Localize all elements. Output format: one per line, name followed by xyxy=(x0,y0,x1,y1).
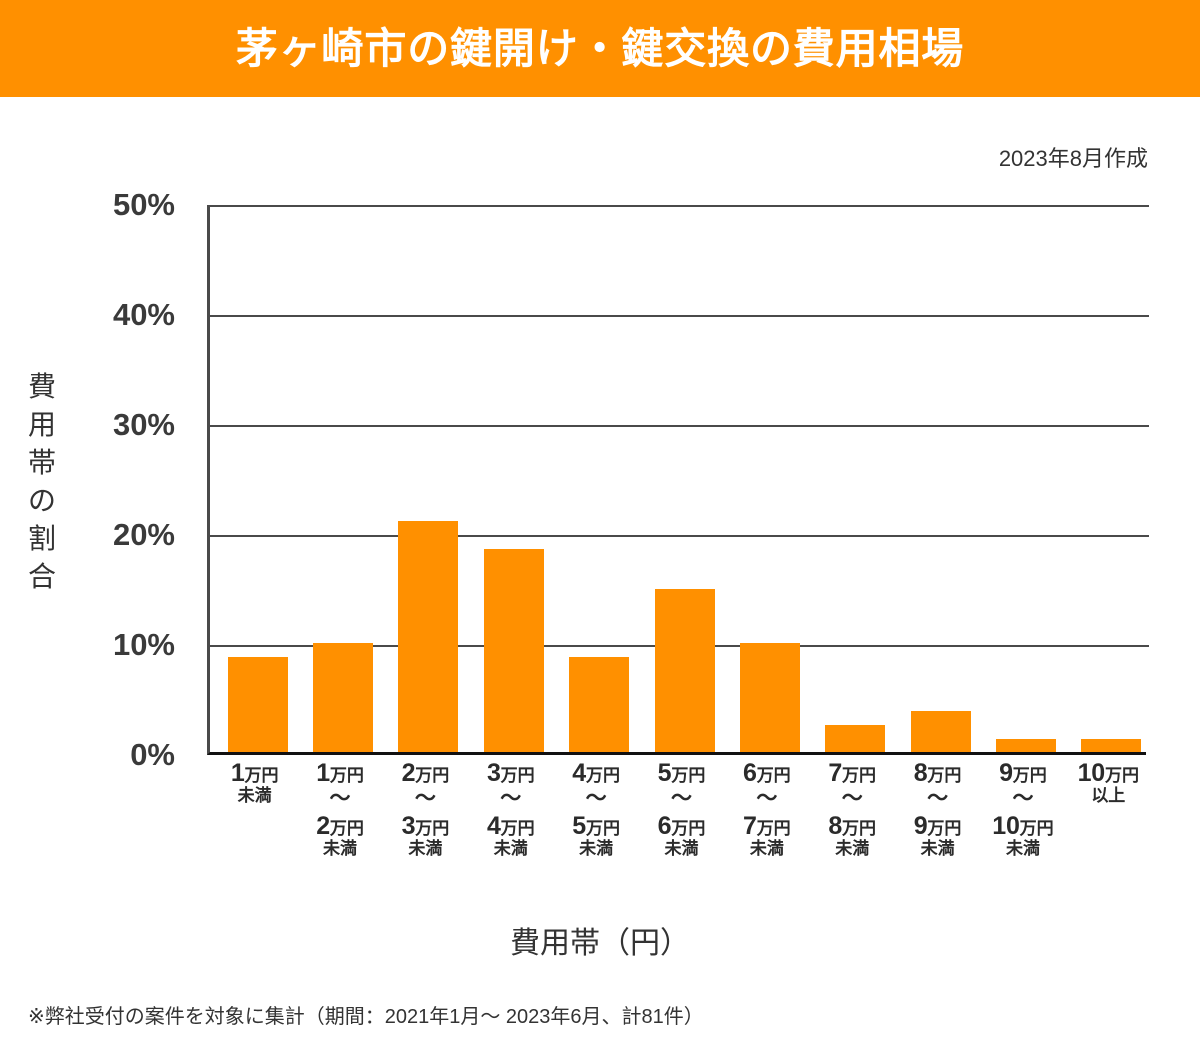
x-tick-range-separator: ～ xyxy=(553,786,639,812)
x-tick-range-end: 9万円 xyxy=(895,813,981,839)
gridline xyxy=(210,535,1149,537)
x-tick-range-separator: ～ xyxy=(468,786,554,812)
y-axis-title-char: 帯 xyxy=(22,444,62,482)
x-axis-tick-label: 2万円～3万円未満 xyxy=(382,760,468,858)
x-tick-range-start: 7万円 xyxy=(809,760,895,786)
x-axis-tick-label: 1万円～2万円未満 xyxy=(297,760,383,858)
x-axis-tick-label: 6万円～7万円未満 xyxy=(724,760,810,858)
x-tick-range-separator: ～ xyxy=(297,786,383,812)
x-axis-tick-label: 5万円～6万円未満 xyxy=(639,760,725,858)
x-tick-suffix: 未満 xyxy=(382,840,468,858)
x-tick-range-start: 1万円 xyxy=(297,760,383,786)
created-date-label: 2023年8月作成 xyxy=(999,141,1148,173)
gridline xyxy=(210,315,1149,317)
chart-page: 茅ヶ崎市の鍵開け・鍵交換の費用相場 2023年8月作成 費用帯の割合 0%10%… xyxy=(0,0,1200,1041)
x-tick-suffix: 未満 xyxy=(553,840,639,858)
x-tick-range-end: 6万円 xyxy=(639,813,725,839)
x-axis-tick-label: 8万円～9万円未満 xyxy=(895,760,981,858)
x-tick-suffix: 未満 xyxy=(639,840,725,858)
page-title: 茅ヶ崎市の鍵開け・鍵交換の費用相場 xyxy=(236,28,964,70)
bar xyxy=(1081,739,1141,752)
x-axis-tick-label: 1万円未満 xyxy=(212,760,298,805)
x-axis-title: 費用帯（円） xyxy=(0,918,1200,962)
x-tick-range-separator: ～ xyxy=(724,786,810,812)
x-tick-suffix: 未満 xyxy=(980,840,1066,858)
y-axis-title-char: 合 xyxy=(22,558,62,596)
x-tick-suffix: 未満 xyxy=(212,787,298,805)
y-axis-tick-label: 10% xyxy=(45,629,175,660)
x-tick-suffix: 未満 xyxy=(297,840,383,858)
x-axis-tick-label: 3万円～4万円未満 xyxy=(468,760,554,858)
x-tick-range-end: 2万円 xyxy=(297,813,383,839)
x-tick-suffix: 未満 xyxy=(468,840,554,858)
x-tick-range-end: 10万円 xyxy=(980,813,1066,839)
x-tick-range-start: 8万円 xyxy=(895,760,981,786)
x-tick-range-start: 10万円 xyxy=(1065,760,1151,786)
x-tick-range-end: 7万円 xyxy=(724,813,810,839)
x-tick-range-separator: ～ xyxy=(895,786,981,812)
x-tick-range-start: 9万円 xyxy=(980,760,1066,786)
y-axis-title-char: 費 xyxy=(22,368,62,406)
x-tick-range-start: 4万円 xyxy=(553,760,639,786)
x-tick-range-separator: ～ xyxy=(980,786,1066,812)
x-tick-range-end: 4万円 xyxy=(468,813,554,839)
x-tick-range-start: 2万円 xyxy=(382,760,468,786)
bar xyxy=(484,549,544,753)
y-axis-title-char: 割 xyxy=(22,520,62,558)
x-axis-tick-label: 10万円以上 xyxy=(1065,760,1151,805)
bar xyxy=(996,739,1056,752)
y-axis-title-char: 用 xyxy=(22,406,62,444)
bar xyxy=(228,657,288,752)
x-tick-range-separator: ～ xyxy=(382,786,468,812)
plot-area xyxy=(207,205,1146,755)
bar xyxy=(825,725,885,753)
x-tick-suffix: 以上 xyxy=(1065,787,1151,805)
x-tick-range-end: 3万円 xyxy=(382,813,468,839)
x-tick-suffix: 未満 xyxy=(809,840,895,858)
x-tick-suffix: 未満 xyxy=(724,840,810,858)
x-tick-range-start: 1万円 xyxy=(212,760,298,786)
x-tick-range-end: 8万円 xyxy=(809,813,895,839)
y-axis-tick-label: 50% xyxy=(45,189,175,220)
x-axis-tick-label: 7万円～8万円未満 xyxy=(809,760,895,858)
bar xyxy=(740,643,800,752)
y-axis-title-char: の xyxy=(22,482,62,520)
x-axis-tick-label: 4万円～5万円未満 xyxy=(553,760,639,858)
header-banner: 茅ヶ崎市の鍵開け・鍵交換の費用相場 xyxy=(0,0,1200,97)
y-axis-tick-label: 40% xyxy=(45,299,175,330)
x-tick-range-start: 6万円 xyxy=(724,760,810,786)
x-axis-tick-labels: 1万円未満1万円～2万円未満2万円～3万円未満3万円～4万円未満4万円～5万円未… xyxy=(207,760,1146,900)
footnote-text: ※弊社受付の案件を対象に集計（期間：2021年1月～ 2023年6月、計81件） xyxy=(28,1000,704,1029)
x-tick-range-start: 3万円 xyxy=(468,760,554,786)
x-tick-range-end: 5万円 xyxy=(553,813,639,839)
bar xyxy=(398,521,458,752)
bar xyxy=(655,589,715,752)
gridline xyxy=(210,205,1149,207)
y-axis-tick-label: 30% xyxy=(45,409,175,440)
bar xyxy=(569,657,629,752)
bar xyxy=(911,711,971,752)
x-tick-range-separator: ～ xyxy=(809,786,895,812)
x-axis-tick-label: 9万円～10万円未満 xyxy=(980,760,1066,858)
bar xyxy=(313,643,373,752)
x-tick-suffix: 未満 xyxy=(895,840,981,858)
y-axis-tick-label: 20% xyxy=(45,519,175,550)
y-axis-tick-label: 0% xyxy=(45,739,175,770)
x-tick-range-start: 5万円 xyxy=(639,760,725,786)
y-axis-title: 費用帯の割合 xyxy=(22,368,62,596)
x-tick-range-separator: ～ xyxy=(639,786,725,812)
gridline xyxy=(210,425,1149,427)
